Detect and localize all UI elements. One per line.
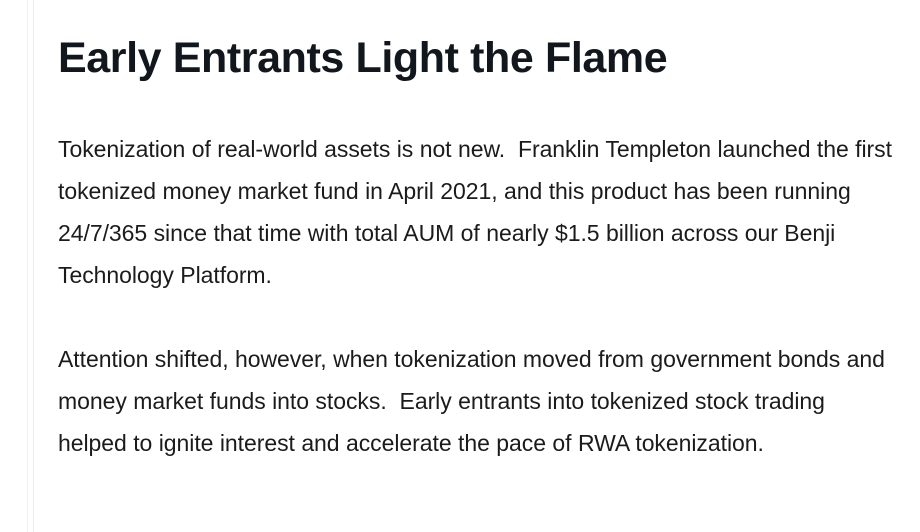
article: Early Entrants Light the Flame Tokenizat… [58,0,894,532]
article-title: Early Entrants Light the Flame [58,32,667,84]
gutter-rail-outer [27,0,28,532]
article-paragraph-1: Tokenization of real-world assets is not… [58,128,894,296]
article-paragraph-2: Attention shifted, however, when tokeniz… [58,338,894,464]
gutter-rail-inner [33,0,34,532]
article-body: Tokenization of real-world assets is not… [58,128,894,464]
page-root: Early Entrants Light the Flame Tokenizat… [0,0,920,532]
